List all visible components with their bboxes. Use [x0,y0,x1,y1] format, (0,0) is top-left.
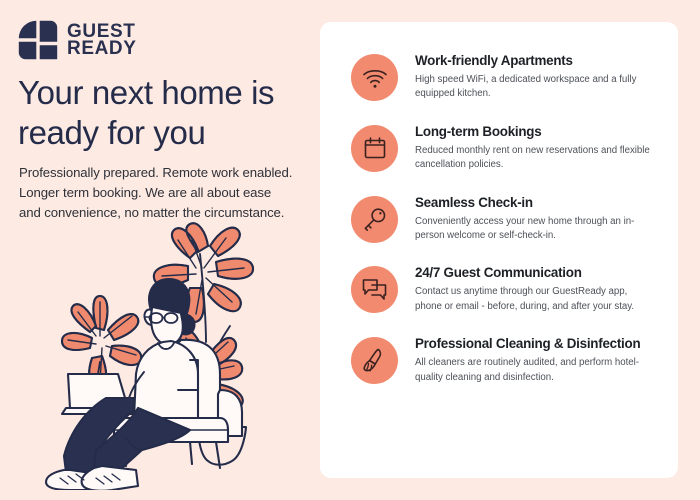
hero-subcopy: Professionally prepared. Remote work ena… [19,163,295,223]
hero-column: GUEST READY Your next home is ready for … [0,0,318,500]
guestready-quadrant-logo-icon [18,20,58,60]
feature-title: Long-term Bookings [415,124,656,140]
hero-illustration [30,222,308,490]
feature-icon-badge [351,337,398,384]
key-icon [362,207,387,232]
broom-icon [362,348,387,373]
feature-item-cleaning-disinfection: Professional Cleaning & Disinfection All… [351,335,656,385]
feature-icon-badge [351,54,398,101]
feature-description: All cleaners are routinely audited, and … [415,356,656,385]
feature-icon-badge [351,196,398,243]
feature-text: Long-term Bookings Reduced monthly rent … [415,123,656,173]
feature-title: Work-friendly Apartments [415,53,656,69]
feature-text: Professional Cleaning & Disinfection All… [415,335,656,385]
brand-logo[interactable]: GUEST READY [18,20,137,60]
calendar-icon [363,136,387,160]
feature-item-long-term-bookings: Long-term Bookings Reduced monthly rent … [351,123,656,173]
page-title: Your next home is ready for you [18,73,308,154]
feature-description: Conveniently access your new home throug… [415,215,656,244]
wifi-icon [362,67,388,89]
feature-text: Work-friendly Apartments High speed WiFi… [415,52,656,102]
feature-item-seamless-check-in: Seamless Check-in Conveniently access yo… [351,194,656,244]
feature-text: 24/7 Guest Communication Contact us anyt… [415,264,656,314]
brand-word-line2: READY [67,40,137,57]
feature-description: High speed WiFi, a dedicated workspace a… [415,73,656,102]
feature-item-work-friendly-apartments: Work-friendly Apartments High speed WiFi… [351,52,656,102]
feature-description: Contact us anytime through our GuestRead… [415,285,656,314]
feature-icon-badge [351,125,398,172]
chat-bubbles-icon [362,278,387,301]
feature-title: Professional Cleaning & Disinfection [415,336,656,352]
feature-title: 24/7 Guest Communication [415,265,656,281]
feature-item-guest-communication: 24/7 Guest Communication Contact us anyt… [351,264,656,314]
feature-text: Seamless Check-in Conveniently access yo… [415,194,656,244]
feature-icon-badge [351,266,398,313]
features-card: Work-friendly Apartments High speed WiFi… [320,22,678,478]
brand-wordmark: GUEST READY [67,23,137,58]
promo-page: GUEST READY Your next home is ready for … [0,0,700,500]
feature-title: Seamless Check-in [415,195,656,211]
features-list: Work-friendly Apartments High speed WiFi… [351,52,656,385]
feature-description: Reduced monthly rent on new reservations… [415,144,656,173]
